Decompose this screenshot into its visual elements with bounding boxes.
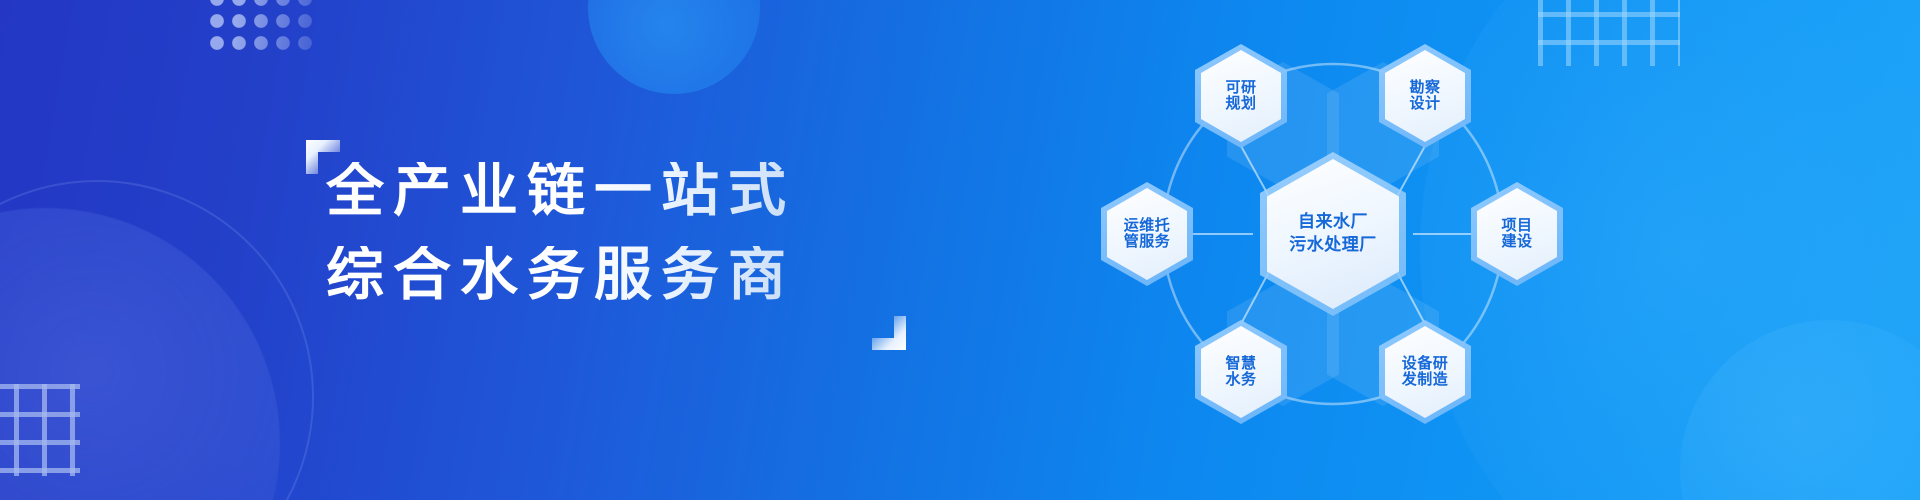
circle-top-center-decoration (588, 0, 760, 94)
hexagon-label-line-1: 项目 (1501, 218, 1532, 234)
hexagon-label-line-2: 建设 (1501, 234, 1532, 250)
service-hexagon-diagram: 自来水厂 污水处理厂 可研 规划 勘察 设计 项目 建设 (1075, 18, 1595, 488)
hexagon-center-line-1: 自来水厂 (1289, 211, 1377, 234)
line-grid-bottom-left-decoration (0, 384, 80, 476)
hexagon-center-line-2: 污水处理厂 (1289, 234, 1377, 257)
hexagon-label-line-1: 设备研 (1402, 356, 1449, 372)
hexagon-label-line-1: 可研 (1225, 80, 1256, 96)
headline-line-1: 全产业链一站式 (326, 162, 795, 220)
hexagon-label-line-2: 水务 (1225, 372, 1256, 388)
hexagon-label-line-2: 发制造 (1402, 372, 1449, 388)
arc-bottom-left-decoration (0, 180, 314, 500)
hexagon-label-line-2: 设计 (1409, 96, 1440, 112)
circle-bottom-right-decoration (1680, 320, 1920, 500)
hexagon-label-line-2: 管服务 (1124, 234, 1171, 250)
hexagon-label-line-1: 运维托 (1124, 218, 1171, 234)
promo-banner: 全产业链一站式 综合水务服务商 自来水厂 (0, 0, 1920, 500)
bracket-bottom-right-icon (872, 316, 906, 350)
dot-grid-top-left-decoration (206, 0, 318, 50)
hexagon-label-line-1: 智慧 (1225, 356, 1256, 372)
hexagon-label-line-2: 规划 (1225, 96, 1256, 112)
circle-bottom-left-decoration (0, 208, 280, 500)
headline-block: 全产业链一站式 综合水务服务商 (306, 140, 906, 350)
hexagon-label-line-1: 勘察 (1409, 80, 1440, 96)
headline-line-2: 综合水务服务商 (326, 246, 795, 304)
